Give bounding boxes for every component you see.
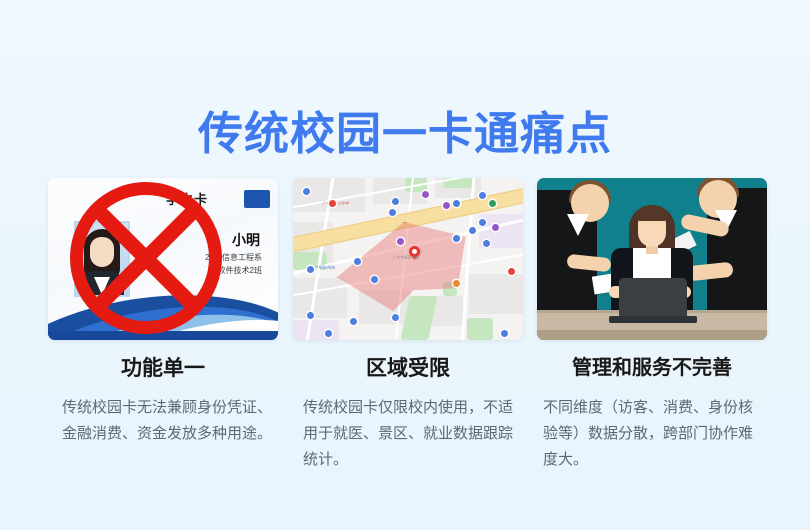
map-illustration: 广州市某某学院 广州市第12中学 广州地铁3号线 xyxy=(293,178,523,340)
map-poi-marker[interactable] xyxy=(483,240,490,247)
map-poi-marker[interactable] xyxy=(501,330,508,337)
map-poi-marker[interactable] xyxy=(443,202,450,209)
map-poi-marker[interactable] xyxy=(325,330,332,337)
office-illustration-thumbnail xyxy=(537,178,767,340)
id-card-class-line: 软件技术2班 xyxy=(218,265,262,276)
map-poi-marker[interactable] xyxy=(469,227,476,234)
id-card-bottom-bar xyxy=(48,331,278,340)
woman-fringe xyxy=(636,206,668,221)
map-poi-marker[interactable] xyxy=(489,200,496,207)
map-poi-marker[interactable] xyxy=(479,219,486,226)
map-label: 广州市某某学院 xyxy=(393,255,419,261)
student-id-card-thumbnail: 学生卡 小明 23级信息工程系 软件技术2班 xyxy=(48,178,278,340)
map-poi-marker[interactable] xyxy=(508,268,515,275)
map-poi-marker[interactable] xyxy=(492,224,499,231)
card-heading-management: 管理和服务不完善 xyxy=(537,356,767,381)
prohibition-cross-icon xyxy=(70,182,222,334)
map-park xyxy=(467,318,493,340)
map-poi-marker[interactable] xyxy=(397,238,404,245)
map-poi-marker[interactable] xyxy=(453,200,460,207)
map-poi-marker[interactable] xyxy=(307,266,314,273)
card-body-function: 传统校园卡无法兼顾身份凭证、金融消费、资金发放多种用途。 xyxy=(48,395,278,447)
map-poi-marker[interactable] xyxy=(354,258,361,265)
pain-point-card-area[interactable]: 广州市某某学院 广州市第12中学 广州地铁3号线 区域受限 传统校园卡仅限校内使… xyxy=(293,178,523,473)
map-thumbnail[interactable]: 广州市某某学院 广州市第12中学 广州地铁3号线 xyxy=(293,178,523,340)
map-poi-marker[interactable] xyxy=(392,198,399,205)
id-card-student-name: 小明 xyxy=(232,230,260,250)
map-block-lilac xyxy=(293,320,339,340)
card-heading-area: 区域受限 xyxy=(293,356,523,381)
map-block xyxy=(469,274,523,314)
laptop-screen xyxy=(619,278,687,318)
card-body-management: 不同维度（访客、消费、身份核验等）数据分散，跨部门协作难度大。 xyxy=(537,395,767,473)
poster-root: 传统校园一卡通痛点 学生卡 xyxy=(0,0,810,530)
map-label: 广州市第12中学 xyxy=(323,201,349,207)
page-title: 传统校园一卡通痛点 xyxy=(0,108,810,160)
office-desk-front xyxy=(537,330,767,340)
map-poi-marker[interactable] xyxy=(422,191,429,198)
office-illustration xyxy=(537,178,767,340)
map-poi-marker[interactable] xyxy=(453,235,460,242)
card-heading-function: 功能单一 xyxy=(48,356,278,381)
map-poi-marker[interactable] xyxy=(453,280,460,287)
pain-point-card-management[interactable]: 管理和服务不完善 不同维度（访客、消费、身份核验等）数据分散，跨部门协作难度大。 xyxy=(537,178,767,473)
map-poi-marker[interactable] xyxy=(350,318,357,325)
map-poi-marker[interactable] xyxy=(371,276,378,283)
pain-point-card-list: 学生卡 小明 23级信息工程系 软件技术2班 功能单一 传统校园卡无法兼顾身份凭… xyxy=(0,178,810,518)
map-poi-marker[interactable] xyxy=(392,314,399,321)
map-block xyxy=(293,278,347,318)
pain-point-card-function[interactable]: 学生卡 小明 23级信息工程系 软件技术2班 功能单一 传统校园卡无法兼顾身份凭… xyxy=(48,178,278,447)
map-poi-marker[interactable] xyxy=(389,209,396,216)
id-card-chip-icon xyxy=(244,190,270,208)
laptop-base xyxy=(609,316,697,323)
map-poi-marker[interactable] xyxy=(479,192,486,199)
card-body-area: 传统校园卡仅限校内使用，不适用于就医、景区、就业数据跟踪统计。 xyxy=(293,395,523,473)
map-poi-marker[interactable] xyxy=(307,312,314,319)
map-label: 广州地铁3号线 xyxy=(311,265,335,271)
map-poi-marker[interactable] xyxy=(329,200,336,207)
map-poi-marker[interactable] xyxy=(303,188,310,195)
